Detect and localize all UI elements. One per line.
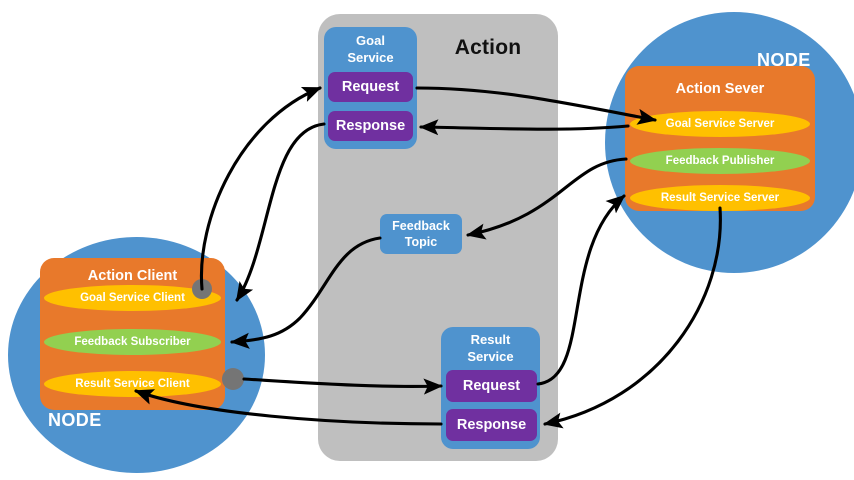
result-client-connector-dot (222, 368, 244, 390)
pill-goal-service-server[interactable]: Goal Service Server (630, 111, 810, 137)
diagram-canvas: Goal Service Client Feedback Subscriber … (0, 0, 854, 480)
goal-service-title-line1: Goal (356, 33, 385, 48)
result-service-response-box[interactable]: Response (446, 409, 537, 441)
feedback-topic-label: Feedback Topic (392, 218, 450, 250)
action-panel-title: Action (428, 36, 548, 60)
result-service-title: Result Service (441, 331, 540, 365)
arrow-goal-client-to-request (201, 88, 320, 289)
goal-service-response-box[interactable]: Response (328, 111, 413, 141)
goal-service-title: Goal Service (324, 32, 417, 66)
client-node-label: NODE (48, 410, 102, 431)
goal-client-connector-dot (192, 279, 212, 299)
feedback-topic-line2: Topic (405, 235, 437, 249)
action-client-title: Action Client (0, 268, 265, 284)
feedback-topic-line1: Feedback (392, 219, 450, 233)
pill-result-service-server[interactable]: Result Service Server (630, 185, 810, 211)
goal-service-request-box[interactable]: Request (328, 72, 413, 102)
feedback-topic-box[interactable]: Feedback Topic (380, 214, 462, 254)
server-node-label: NODE (757, 50, 811, 71)
action-server-title: Action Sever (625, 81, 815, 97)
result-service-title-line2: Service (467, 349, 513, 364)
pill-feedback-subscriber[interactable]: Feedback Subscriber (44, 329, 221, 355)
pill-feedback-publisher[interactable]: Feedback Publisher (630, 148, 810, 174)
result-service-title-line1: Result (471, 332, 511, 347)
goal-service-title-line2: Service (347, 50, 393, 65)
result-service-request-box[interactable]: Request (446, 370, 537, 402)
pill-result-service-client[interactable]: Result Service Client (44, 371, 221, 397)
